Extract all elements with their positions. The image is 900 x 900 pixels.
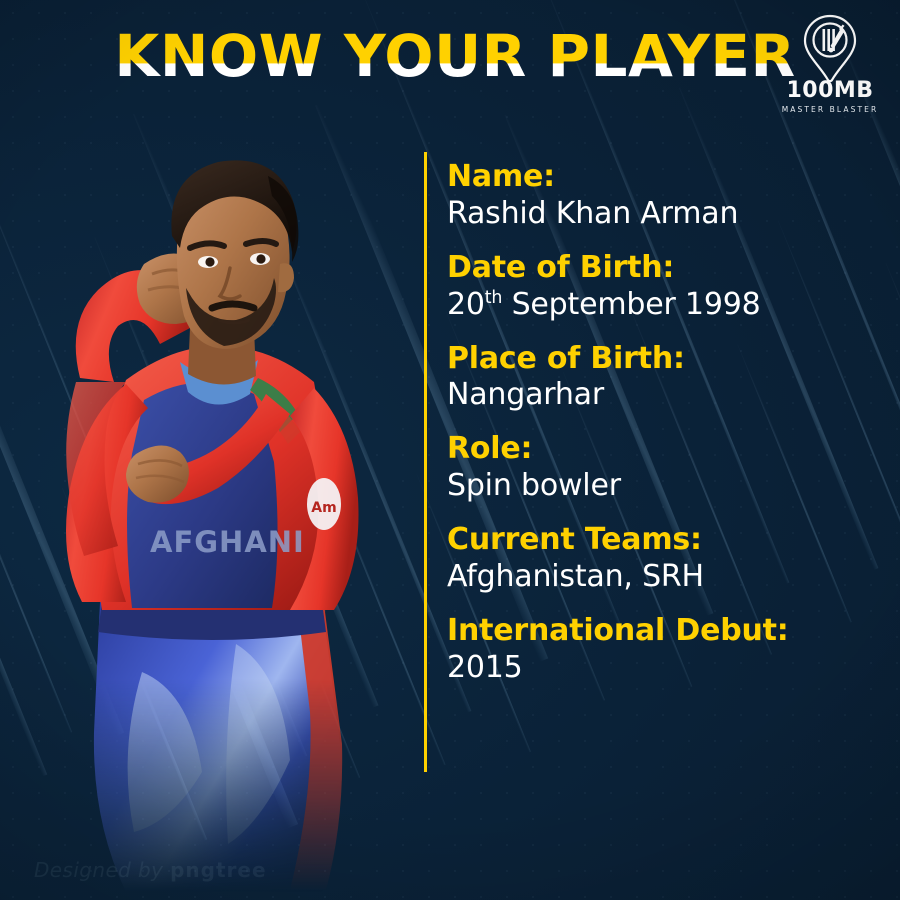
info-value: 20th September 1998 (447, 287, 887, 323)
dob-ordinal-suffix: th (485, 288, 502, 308)
dob-prefix: 20 (447, 287, 485, 322)
info-label: Place of Birth: (447, 342, 887, 377)
info-label: Date of Birth: (447, 251, 887, 286)
brand-logo[interactable]: 100MB MASTER BLASTER (778, 14, 882, 114)
player-info-list: Name: Rashid Khan Arman Date of Birth: 2… (447, 160, 887, 686)
dob-suffix: September 1998 (502, 287, 760, 322)
svg-text:AFGHANI: AFGHANI (150, 525, 305, 559)
info-row-name: Name: Rashid Khan Arman (447, 160, 887, 232)
info-label: Role: (447, 432, 887, 467)
svg-text:Am: Am (311, 500, 336, 516)
info-row-date-of-birth: Date of Birth: 20th September 1998 (447, 251, 887, 323)
player-info-poster: AFGHANI Am (0, 0, 900, 900)
poster-title-container: KNOW YOUR PLAYER (0, 26, 900, 86)
info-row-place-of-birth: Place of Birth: Nangarhar (447, 342, 887, 414)
info-value: Rashid Khan Arman (447, 196, 887, 232)
info-row-current-teams: Current Teams: Afghanistan, SRH (447, 523, 887, 595)
location-pin-cricket-icon (800, 14, 860, 82)
info-label: Current Teams: (447, 523, 887, 558)
info-row-role: Role: Spin bowler (447, 432, 887, 504)
info-value: Nangarhar (447, 377, 887, 413)
info-row-international-debut: International Debut: 2015 (447, 614, 887, 686)
info-value: Afghanistan, SRH (447, 559, 887, 595)
logo-name: 100MB (778, 80, 882, 102)
page-title: KNOW YOUR PLAYER (114, 26, 795, 86)
watermark: Designed by pngtree (34, 858, 267, 882)
info-label: International Debut: (447, 614, 887, 649)
info-value: 2015 (447, 650, 887, 686)
player-photo: AFGHANI Am (22, 132, 408, 892)
watermark-prefix: Designed by (34, 858, 170, 882)
info-value: Spin bowler (447, 468, 887, 504)
watermark-brand: pngtree (170, 858, 266, 882)
logo-tagline: MASTER BLASTER (778, 105, 882, 114)
info-label: Name: (447, 160, 887, 195)
vertical-divider (424, 152, 427, 772)
